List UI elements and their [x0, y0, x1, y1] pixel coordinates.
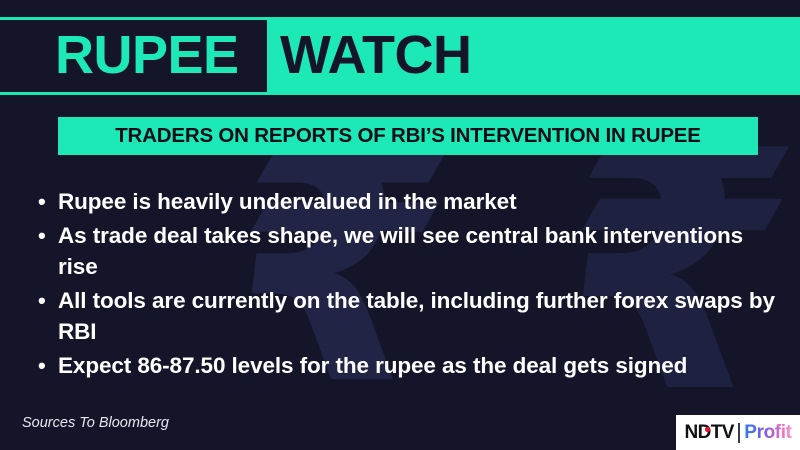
logo-product-label: Profit [744, 423, 791, 442]
bullet-dot-icon: • [38, 350, 58, 381]
list-item: • As trade deal takes shape, we will see… [38, 220, 778, 282]
list-item-text: Rupee is heavily undervalued in the mark… [58, 186, 778, 217]
headline-banner: RUPEE WATCH [0, 17, 800, 95]
list-item: • Rupee is heavily undervalued in the ma… [38, 186, 778, 217]
list-item: • All tools are currently on the table, … [38, 285, 778, 347]
list-item-text: All tools are currently on the table, in… [58, 285, 778, 347]
logo-brand-label: NDTV [684, 422, 733, 443]
logo-red-dot-icon [705, 427, 710, 432]
bullet-dot-icon: • [38, 285, 58, 316]
logo-lockup: NDTV Profit [684, 423, 791, 443]
logo-divider [738, 423, 741, 443]
subtitle-text: TRADERS ON REPORTS OF RBI’S INTERVENTION… [115, 124, 701, 148]
banner-rule-top [0, 17, 800, 20]
bullet-list: • Rupee is heavily undervalued in the ma… [38, 186, 778, 384]
subtitle-strip: TRADERS ON REPORTS OF RBI’S INTERVENTION… [58, 117, 758, 155]
source-attribution: Sources To Bloomberg [22, 415, 169, 431]
banner-rule-bottom [0, 92, 800, 95]
logo-brand-text: NDTV [684, 423, 733, 442]
bullet-dot-icon: • [38, 186, 58, 217]
headline-word-rupee: RUPEE [55, 28, 239, 82]
ndtv-profit-logo: NDTV Profit [676, 415, 800, 450]
bullet-dot-icon: • [38, 220, 58, 251]
headline-word-watch: WATCH [280, 28, 471, 82]
list-item-text: Expect 86-87.50 levels for the rupee as … [58, 350, 778, 381]
list-item-text: As trade deal takes shape, we will see c… [58, 220, 778, 282]
list-item: • Expect 86-87.50 levels for the rupee a… [38, 350, 778, 381]
